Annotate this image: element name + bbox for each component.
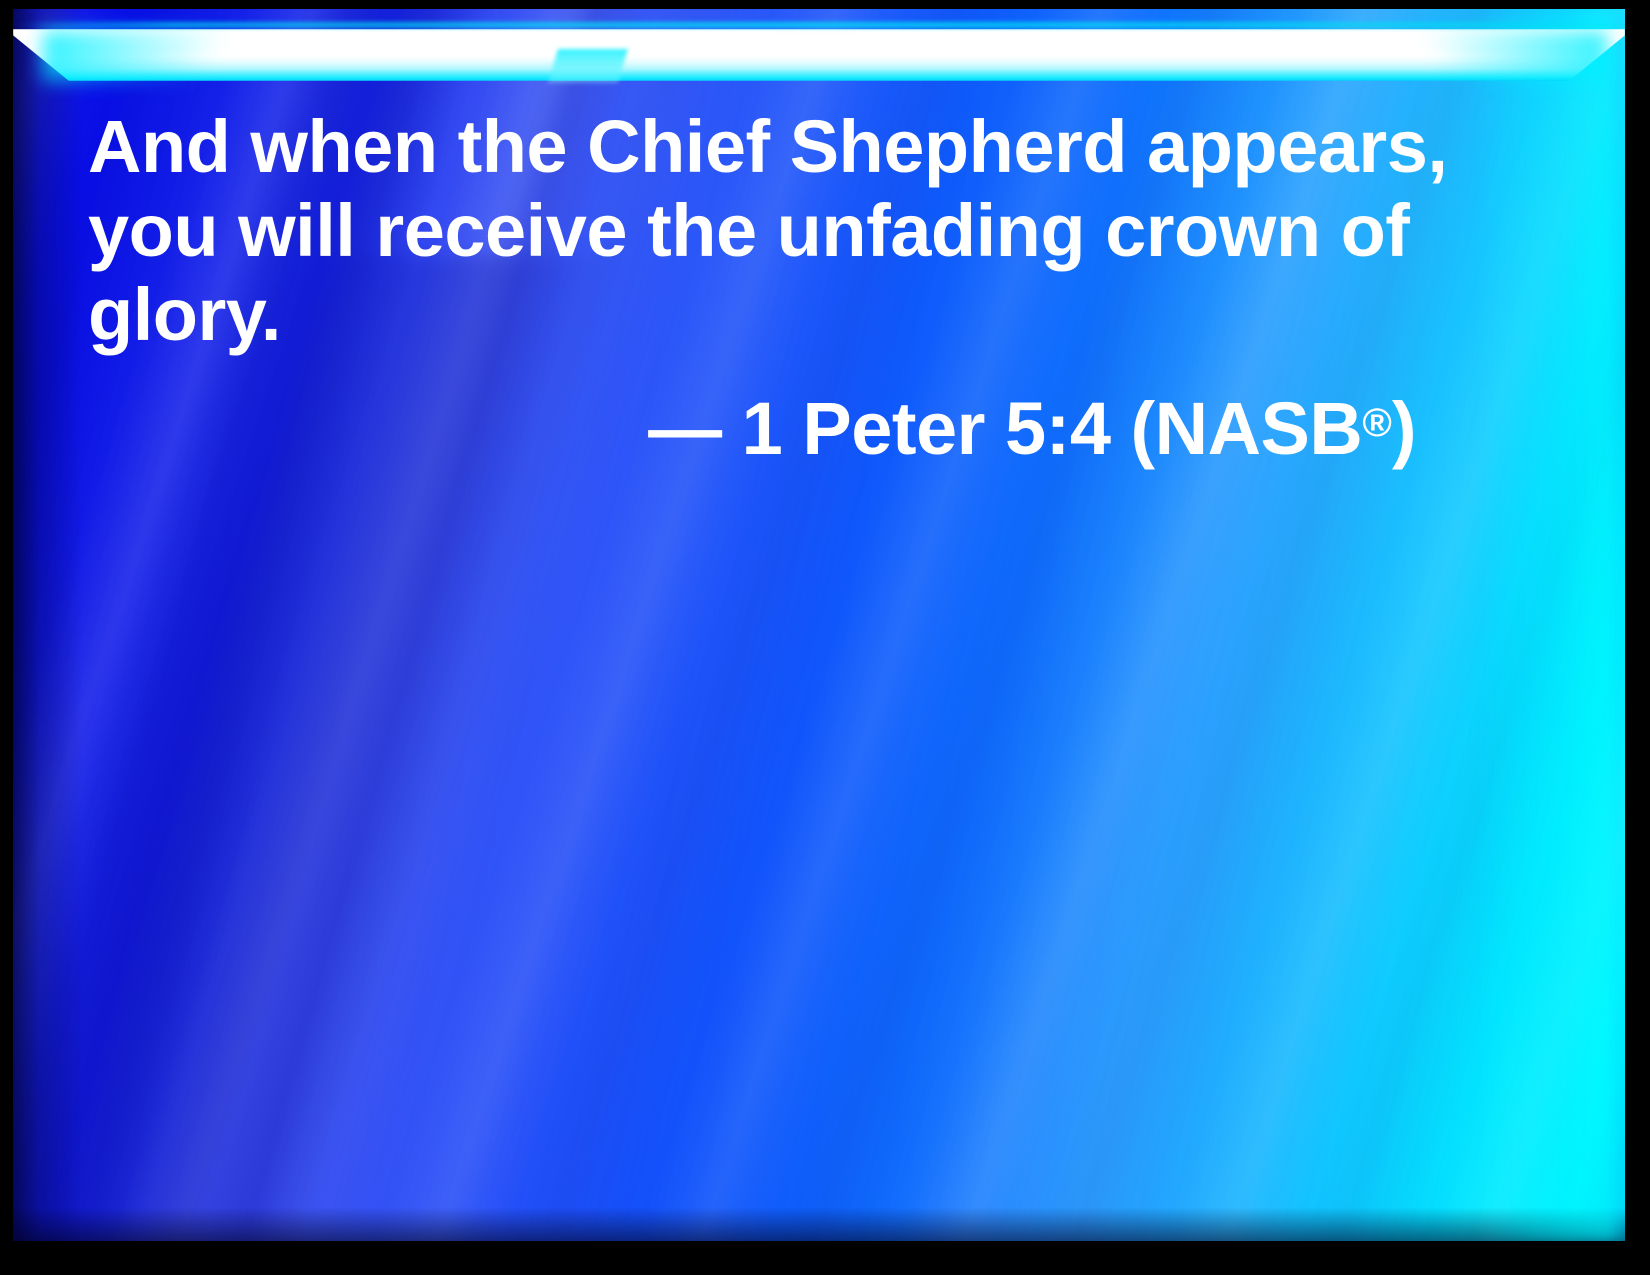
citation-suffix: ) xyxy=(1392,387,1416,470)
verse-text: And when the Chief Shepherd appears, you… xyxy=(88,105,1528,357)
text-layer: And when the Chief Shepherd appears, you… xyxy=(13,9,1625,1241)
slide-root: And when the Chief Shepherd appears, you… xyxy=(0,0,1650,1275)
registered-trademark-icon: ® xyxy=(1362,401,1391,445)
verse-citation: — 1 Peter 5:4 (NASB®) xyxy=(88,381,1528,471)
citation-prefix: — 1 Peter 5:4 (NASB xyxy=(648,387,1362,470)
slide-canvas: And when the Chief Shepherd appears, you… xyxy=(13,9,1625,1241)
